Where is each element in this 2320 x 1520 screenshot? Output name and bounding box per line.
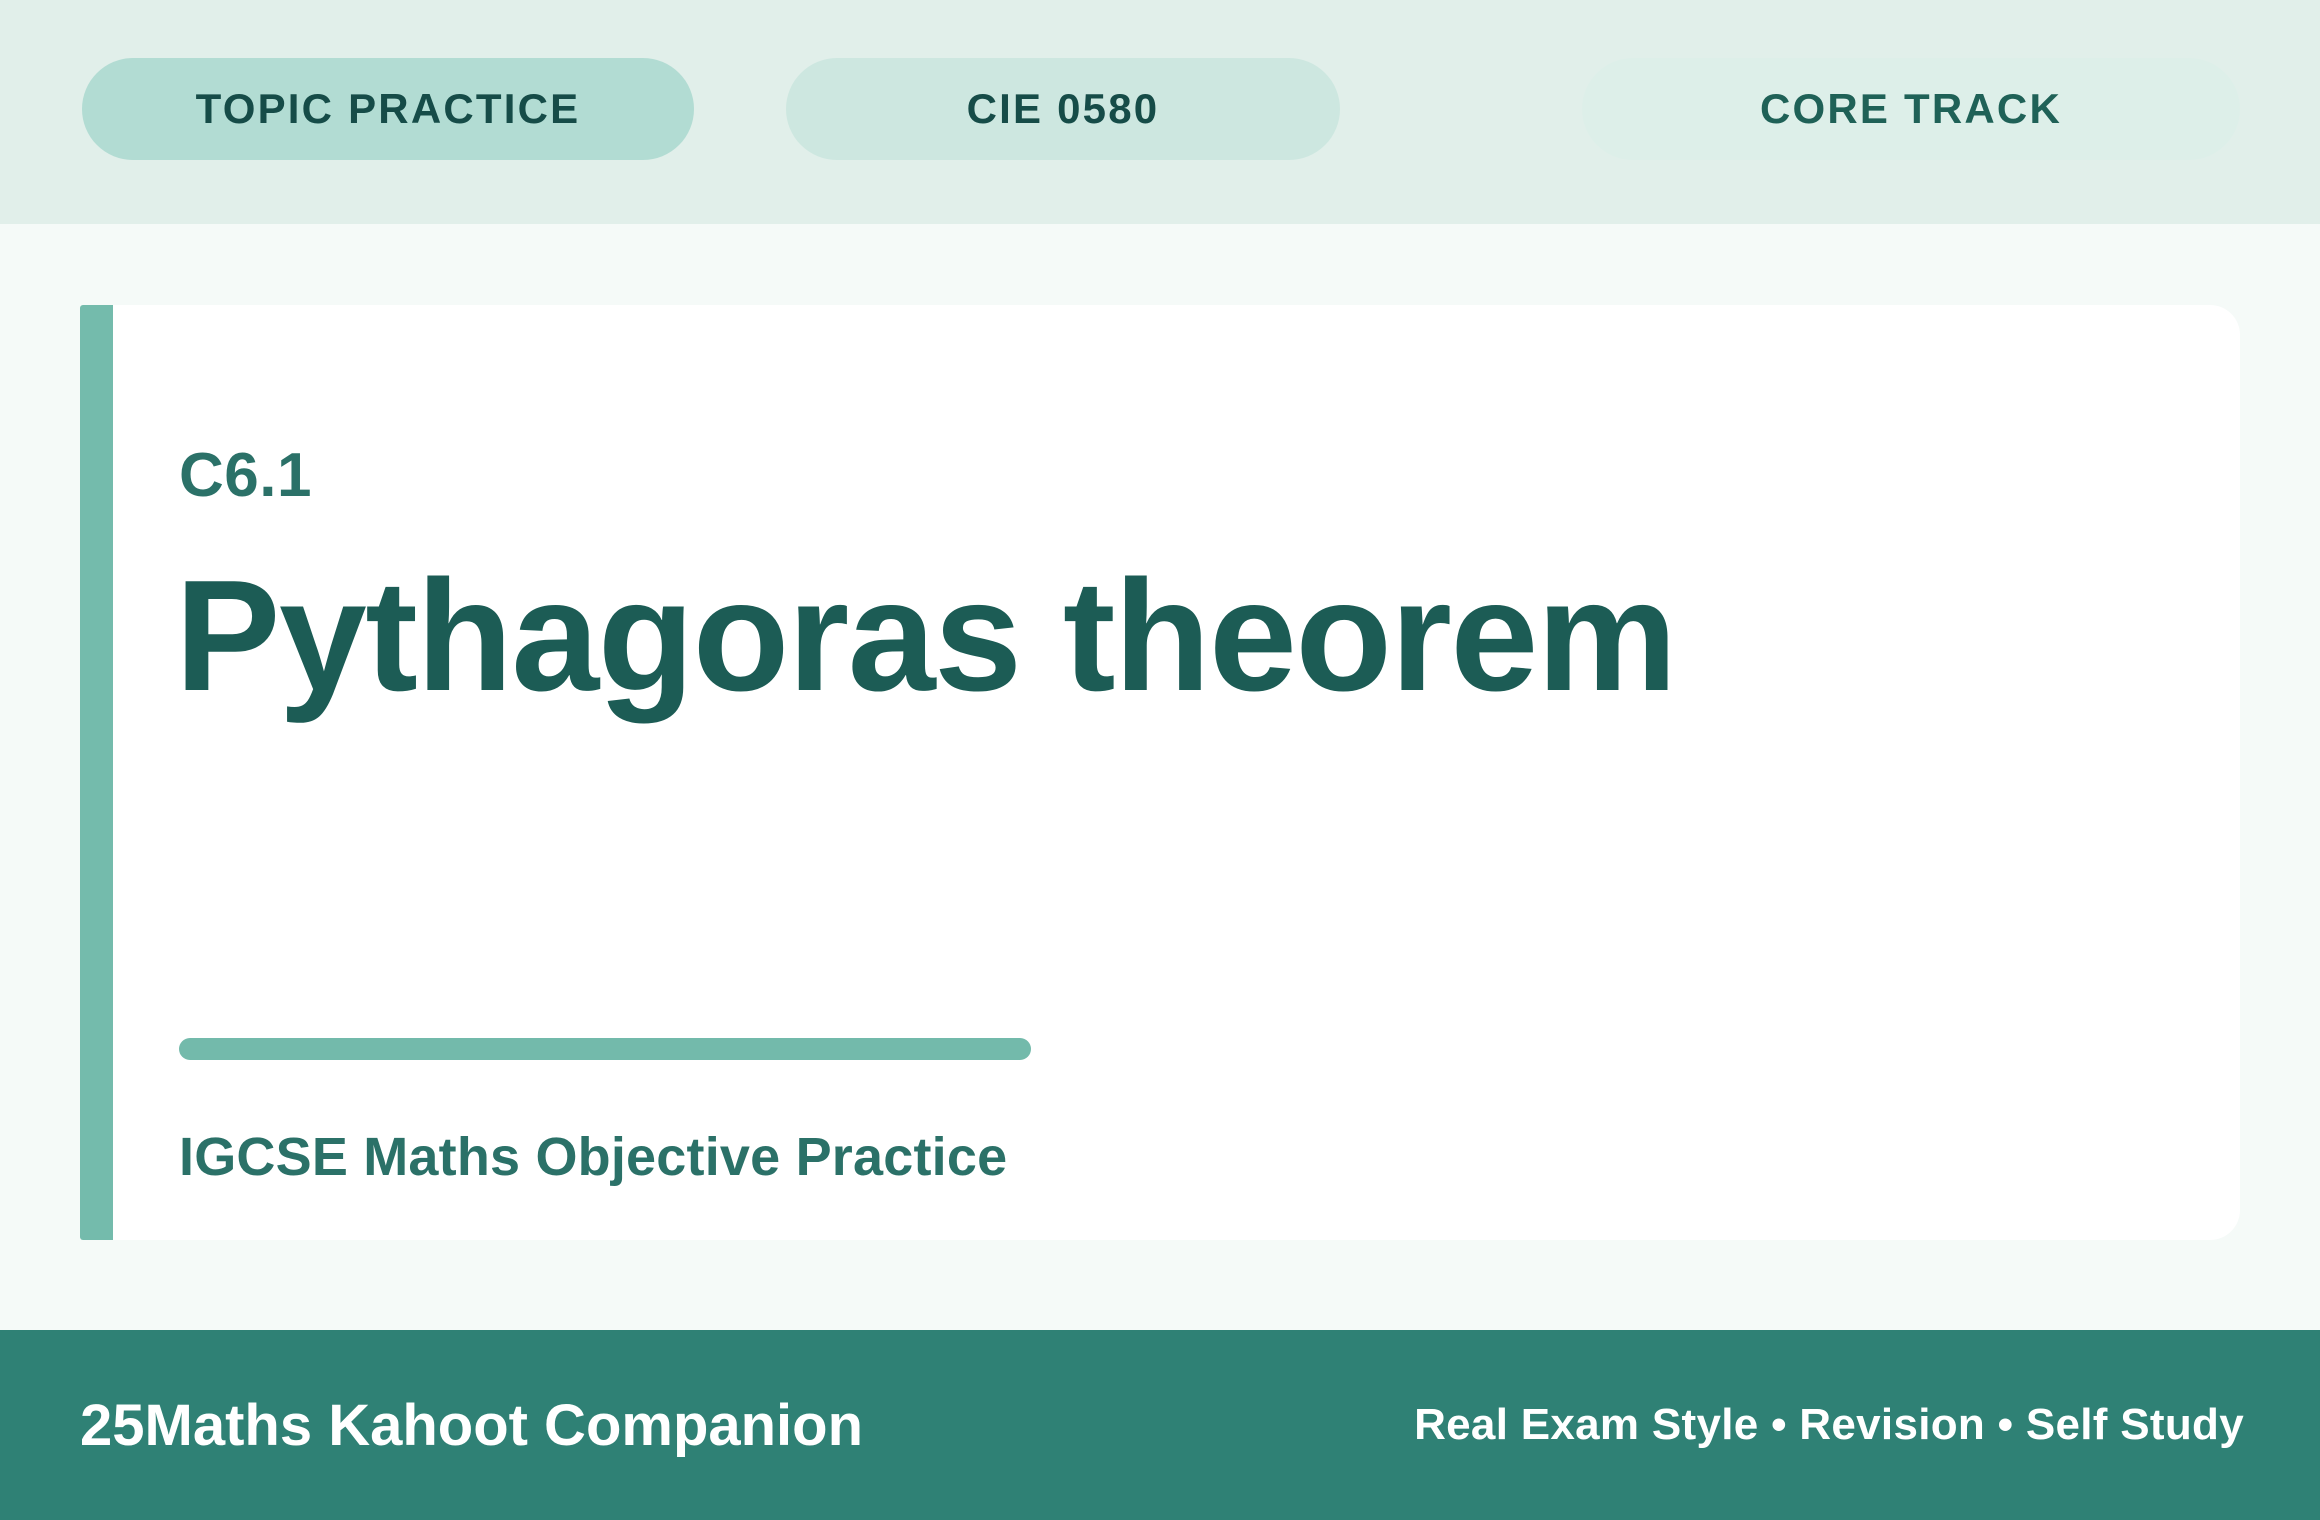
slide-root: TOPIC PRACTICE CIE 0580 CORE TRACK C6.1 … [0,0,2320,1520]
title-card-wrapper: C6.1 Pythagoras theorem IGCSE Maths Obje… [80,305,2240,1240]
objective-code: C6.1 [179,445,312,507]
footer-brand: 25Maths Kahoot Companion [80,1392,863,1459]
title-card: C6.1 Pythagoras theorem IGCSE Maths Obje… [113,305,2240,1240]
pill-syllabus-code[interactable]: CIE 0580 [786,58,1340,160]
pill-core-track[interactable]: CORE TRACK [1582,58,2240,160]
body-area: C6.1 Pythagoras theorem IGCSE Maths Obje… [0,224,2320,1330]
page-title: Pythagoras theorem [175,557,1676,715]
footer-tagline: Real Exam Style • Revision • Self Study [1414,1400,2244,1450]
divider-rule [179,1038,1031,1060]
page-subtitle: IGCSE Maths Objective Practice [179,1130,1007,1184]
pill-topic-practice[interactable]: TOPIC PRACTICE [82,58,694,160]
footer-bar: 25Maths Kahoot Companion Real Exam Style… [0,1330,2320,1520]
meta-band: TOPIC PRACTICE CIE 0580 CORE TRACK [0,0,2320,224]
accent-bar [80,305,113,1240]
